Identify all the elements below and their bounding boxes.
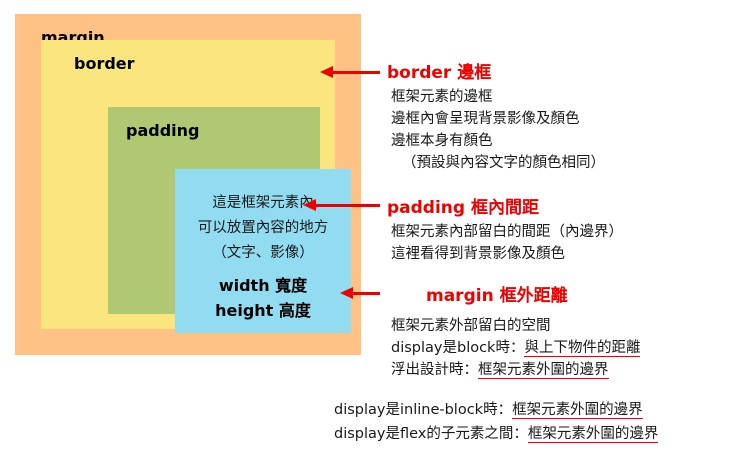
margin-annotation-title: margin 框外距離 bbox=[426, 281, 568, 306]
display-flex-prefix: display是flex的子元素之間： bbox=[334, 426, 528, 442]
margin-note-1: 框架元素外部留白的空間 bbox=[391, 315, 640, 337]
border-note-1: 框架元素的邊框 bbox=[391, 86, 605, 108]
content-width-label: width 寬度 bbox=[175, 273, 351, 298]
margin-callout-arrow bbox=[340, 287, 380, 299]
content-dimensions: width 寬度 height 高度 bbox=[175, 273, 351, 323]
border-note-4: （預設與內容文字的顏色相同） bbox=[391, 152, 605, 174]
border-callout-arrow bbox=[320, 66, 380, 78]
arrow-shaft bbox=[314, 204, 380, 207]
padding-box-region: padding 這是框架元素內 可以放置內容的地方 （文字、影像） width … bbox=[108, 107, 320, 314]
padding-annotation-body: 框架元素內部留白的間距（內邊界） 這裡看得到背景影像及顏色 bbox=[391, 221, 623, 265]
content-line-3: （文字、影像） bbox=[175, 241, 351, 266]
padding-label: padding bbox=[126, 121, 199, 140]
border-box-region: border padding 這是框架元素內 可以放置內容的地方 （文字、影像）… bbox=[41, 40, 335, 329]
display-inline-block-note: display是inline-block時：框架元素外圍的邊界 bbox=[334, 398, 658, 422]
margin-note-3: 浮出設計時：框架元素外圍的邊界 bbox=[391, 359, 640, 381]
padding-callout-arrow bbox=[303, 199, 380, 211]
margin-note-2: display是block時：與上下物件的距離 bbox=[391, 337, 640, 359]
border-annotation-title: border 邊框 bbox=[387, 58, 491, 83]
arrow-shaft bbox=[331, 71, 380, 74]
display-flex-emphasis: 框架元素外圍的邊界 bbox=[528, 426, 659, 443]
arrow-shaft bbox=[351, 292, 380, 295]
padding-annotation-title: padding 框內間距 bbox=[387, 193, 539, 218]
margin-box-region: margin border padding 這是框架元素內 可以放置內容的地方 … bbox=[15, 14, 361, 355]
display-mode-notes: display是inline-block時：框架元素外圍的邊界 display是… bbox=[334, 398, 658, 446]
border-note-3: 邊框本身有顏色 bbox=[391, 130, 605, 152]
margin-note-3-emphasis: 框架元素外圍的邊界 bbox=[478, 362, 609, 379]
padding-note-1: 框架元素內部留白的間距（內邊界） bbox=[391, 221, 623, 243]
border-annotation-body: 框架元素的邊框 邊框內會呈現背景影像及顏色 邊框本身有顏色 （預設與內容文字的顏… bbox=[391, 86, 605, 174]
display-inline-block-prefix: display是inline-block時： bbox=[334, 402, 512, 418]
margin-annotation-body: 框架元素外部留白的空間 display是block時：與上下物件的距離 浮出設計… bbox=[391, 315, 640, 381]
padding-note-2: 這裡看得到背景影像及顏色 bbox=[391, 243, 623, 265]
content-box-region: 這是框架元素內 可以放置內容的地方 （文字、影像） width 寬度 heigh… bbox=[175, 169, 351, 333]
border-note-2: 邊框內會呈現背景影像及顏色 bbox=[391, 108, 605, 130]
content-line-2: 可以放置內容的地方 bbox=[175, 216, 351, 241]
margin-note-2-emphasis: 與上下物件的距離 bbox=[524, 340, 640, 357]
margin-note-2-prefix: display是block時： bbox=[391, 340, 524, 356]
content-height-label: height 高度 bbox=[175, 298, 351, 323]
display-inline-block-emphasis: 框架元素外圍的邊界 bbox=[512, 402, 643, 419]
display-flex-note: display是flex的子元素之間：框架元素外圍的邊界 bbox=[334, 422, 658, 446]
annotation-column: border 邊框 框架元素的邊框 邊框內會呈現背景影像及顏色 邊框本身有顏色 … bbox=[386, 0, 750, 461]
margin-note-3-prefix: 浮出設計時： bbox=[391, 362, 478, 378]
border-label: border bbox=[74, 54, 135, 73]
box-model-diagram: margin border padding 這是框架元素內 可以放置內容的地方 … bbox=[15, 14, 361, 355]
